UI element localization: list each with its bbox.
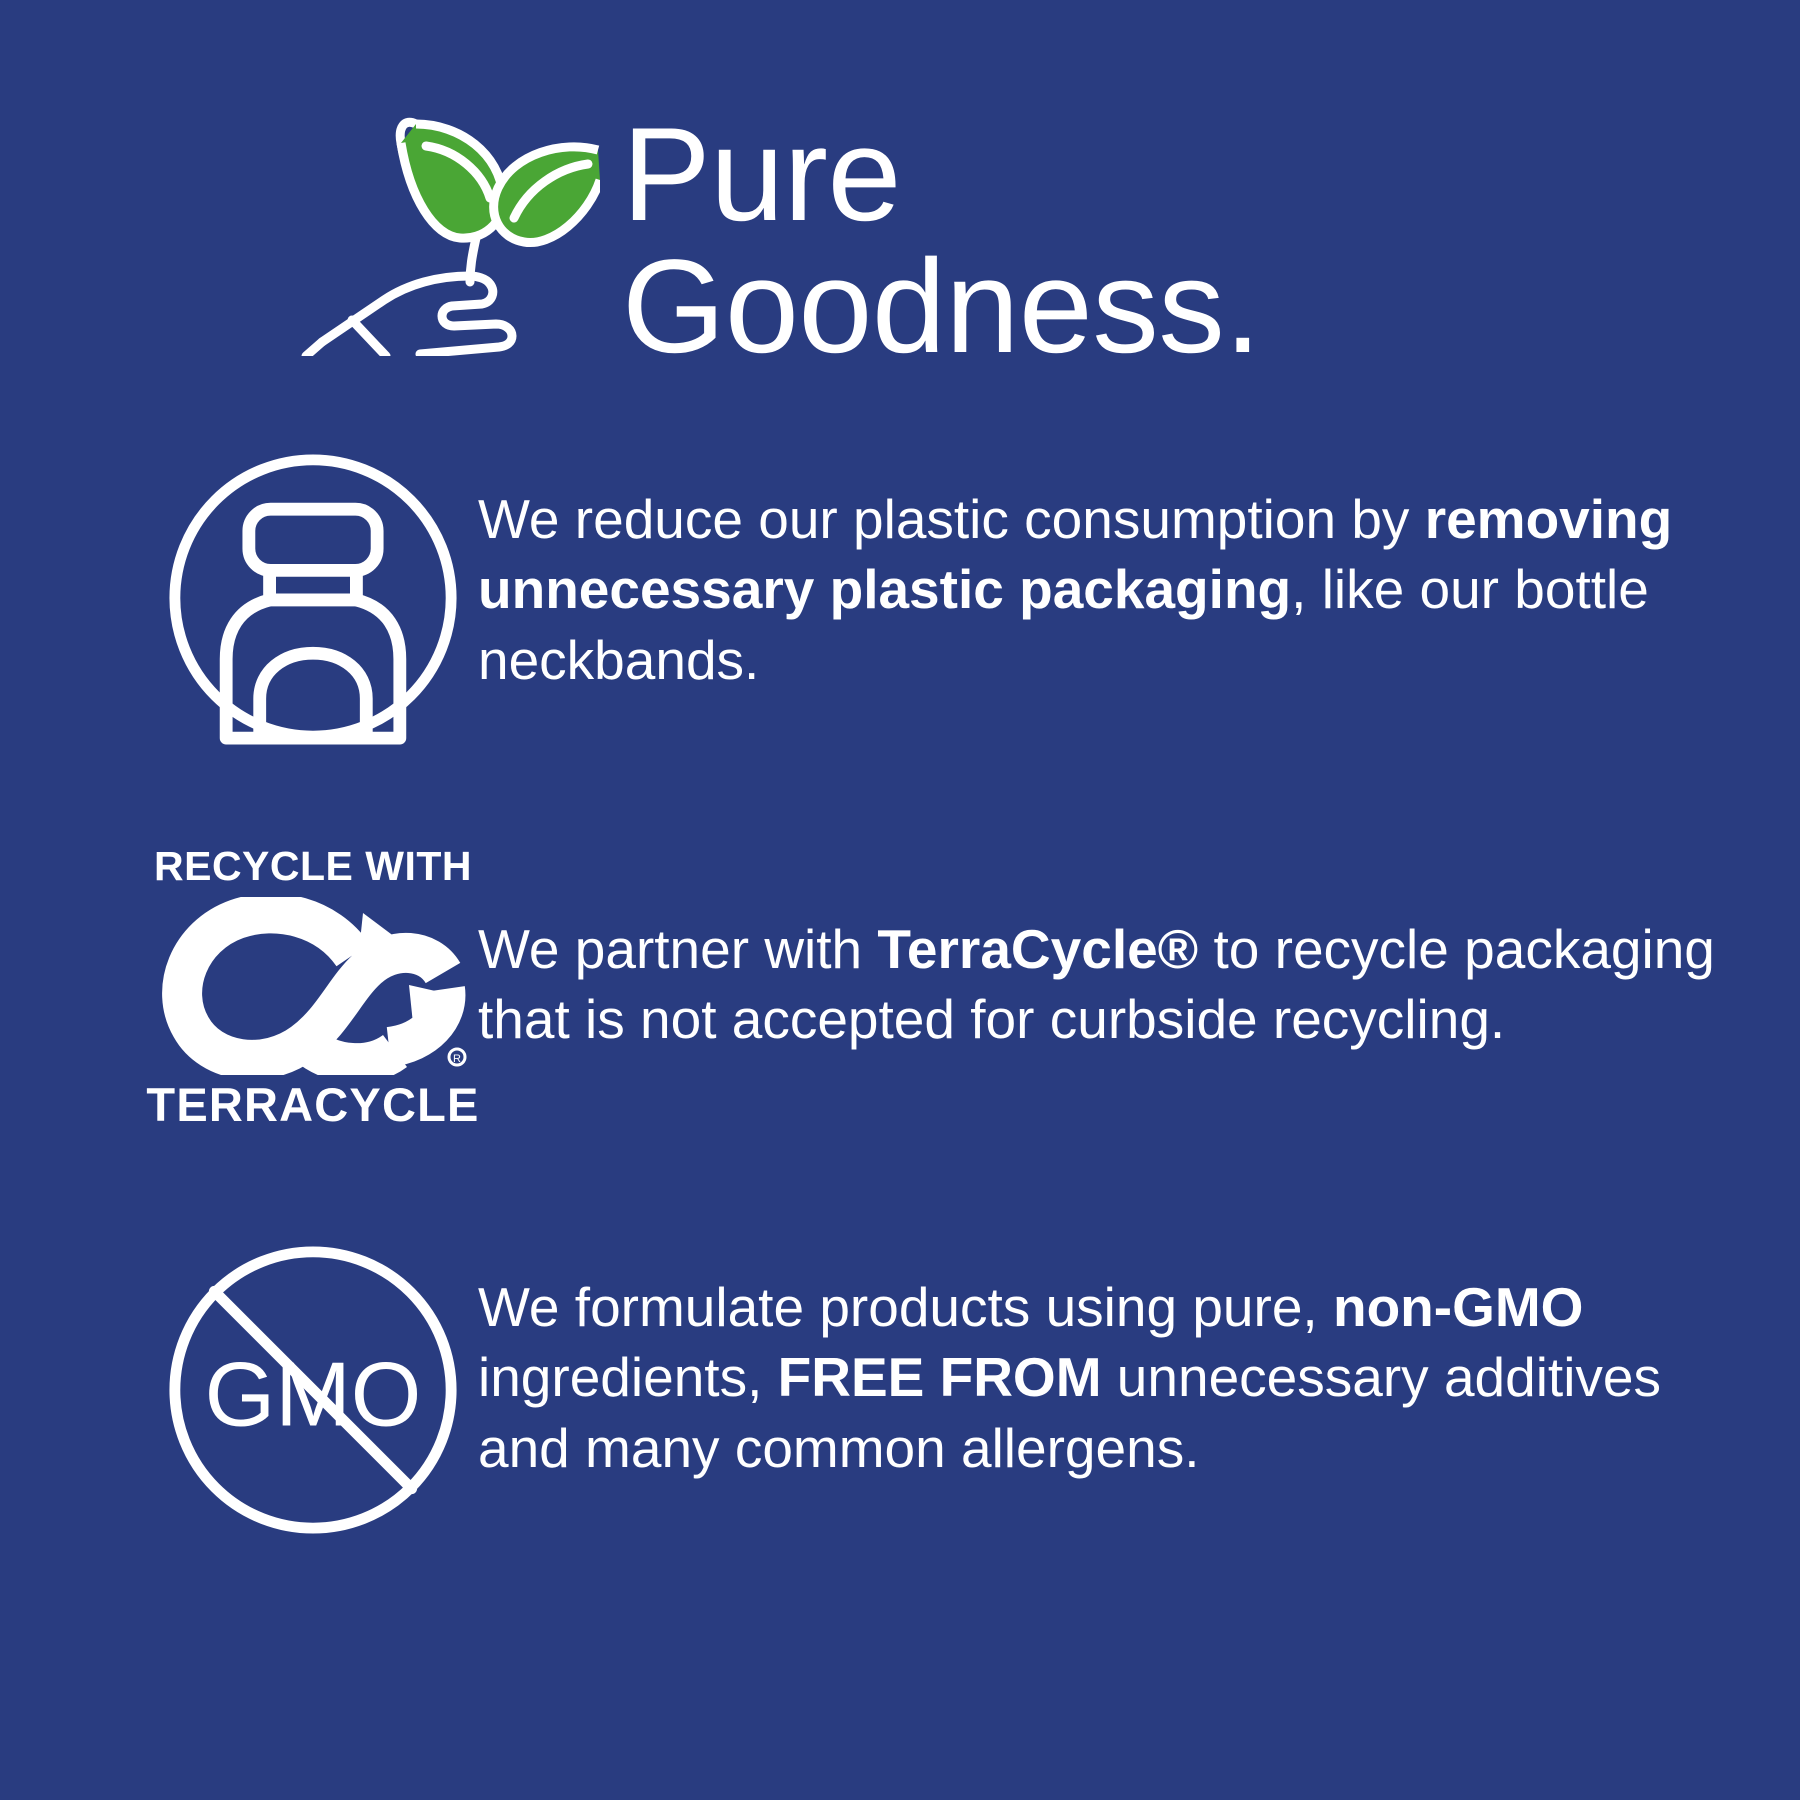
infinity-recycle-arrows-icon: R	[157, 897, 469, 1075]
no-gmo-icon: GMO	[148, 1242, 478, 1538]
feature-text-terracycle: We partner with TerraCycle® to recycle p…	[478, 846, 1800, 1055]
no-gmo-label: GMO	[205, 1345, 422, 1446]
brand-lockup: Pure Goodness.	[300, 78, 1540, 373]
terracycle-bottom-label: TERRACYCLE	[146, 1081, 479, 1128]
feature-text-plastic-reduction: We reduce our plastic consumption by rem…	[478, 450, 1800, 695]
svg-text:R: R	[453, 1053, 461, 1065]
terracycle-top-label: RECYCLE WITH	[154, 846, 472, 887]
feature-row-plastic-reduction: We reduce our plastic consumption by rem…	[0, 450, 1800, 802]
feature-text-segment-bold: FREE FROM	[778, 1346, 1102, 1408]
feature-text-segment: We partner with	[478, 918, 877, 980]
feature-text-segment-bold: TerraCycle®	[877, 918, 1198, 980]
page-title: Pure Goodness.	[622, 78, 1261, 373]
hand-holding-sprout-icon	[300, 88, 600, 356]
feature-row-terracycle: RECYCLE WITH R TERRACYCLE	[0, 846, 1800, 1198]
bottle-in-circle-icon	[148, 450, 478, 746]
terracycle-logo: RECYCLE WITH R TERRACYCLE	[148, 846, 478, 1128]
feature-text-segment: ingredients,	[478, 1346, 778, 1408]
feature-row-non-gmo: GMO We formulate products using pure, no…	[0, 1242, 1800, 1594]
feature-text-segment: We reduce our plastic consumption by	[478, 488, 1425, 550]
feature-text-segment: We formulate products using pure,	[478, 1276, 1333, 1338]
feature-text-segment-bold: non-GMO	[1333, 1276, 1583, 1338]
feature-text-non-gmo: We formulate products using pure, non-GM…	[478, 1242, 1800, 1483]
pure-goodness-poster: Pure Goodness. We reduce our plas	[0, 0, 1800, 1800]
terracycle-lockup: RECYCLE WITH R TERRACYCLE	[157, 846, 469, 1128]
feature-list: We reduce our plastic consumption by rem…	[0, 450, 1800, 1594]
